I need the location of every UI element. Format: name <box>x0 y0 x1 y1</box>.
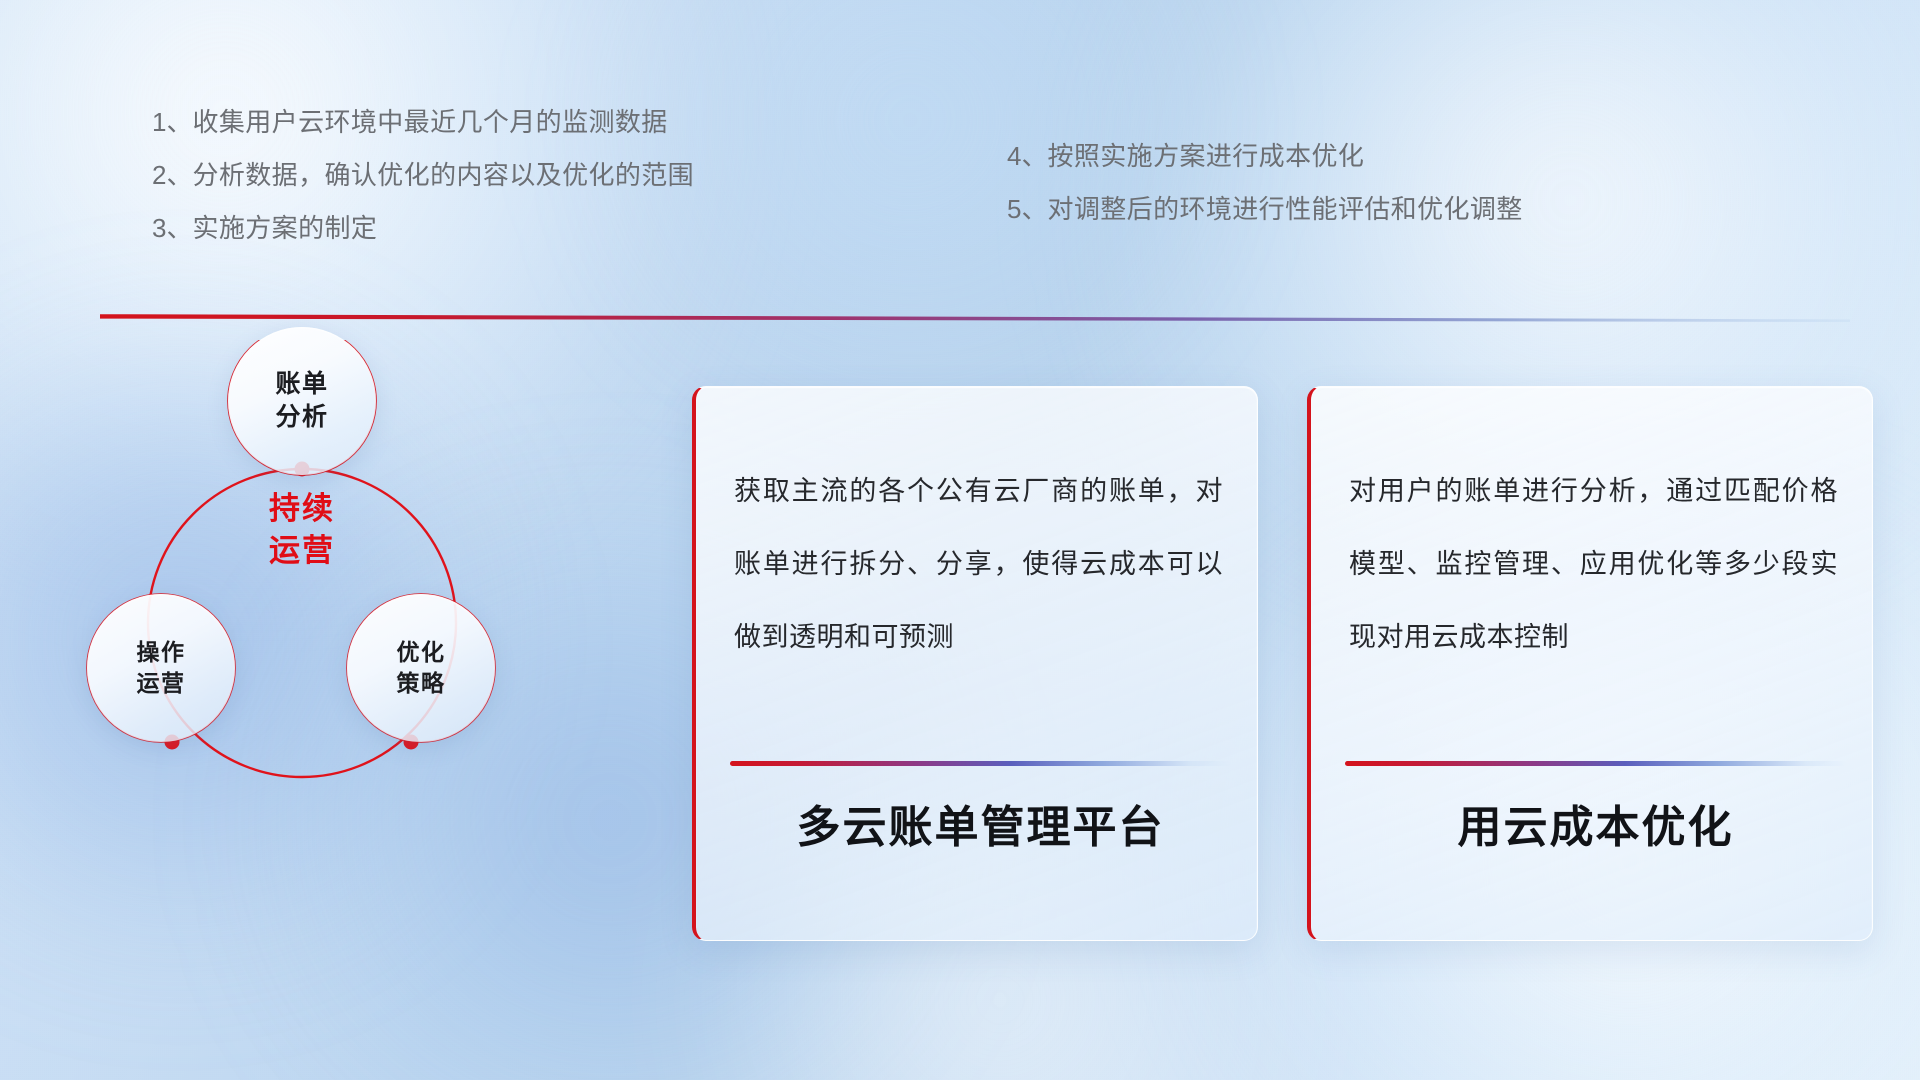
list-item-number: 5、 <box>1007 194 1047 224</box>
list-item-number: 2、 <box>152 160 192 190</box>
list-item-label: 对调整后的环境进行性能评估和优化调整 <box>1047 194 1522 224</box>
node-label-line-1: 账单 <box>275 368 328 401</box>
feature-card-multi-cloud-billing[interactable]: 获取主流的各个公有云厂商的账单，对账单进行拆分、分享，使得云成本可以做到透明和可… <box>692 386 1258 941</box>
card-divider <box>1345 761 1846 766</box>
list-item-label: 实施方案的制定 <box>192 213 377 243</box>
diagram-node-billing-analysis[interactable]: 账单 分析 <box>228 327 376 475</box>
card-divider <box>730 761 1231 766</box>
card-title: 多云账单管理平台 <box>730 799 1231 857</box>
list-item-number: 4、 <box>1007 141 1047 171</box>
process-steps-right-column: 4、按照实施方案进行成本优化 5、对调整后的环境进行性能评估和优化调整 <box>1007 130 1523 236</box>
node-label-line-2: 分析 <box>275 401 328 434</box>
list-item-number: 3、 <box>152 213 192 243</box>
node-label-line-2: 策略 <box>397 668 446 699</box>
node-label-line-1: 优化 <box>397 637 446 668</box>
slide-canvas: 1、收集用户云环境中最近几个月的监测数据 2、分析数据，确认优化的内容以及优化的… <box>0 0 1920 1080</box>
list-item-number: 1、 <box>152 107 192 137</box>
diagram-center-label: 持续 运营 <box>222 488 382 572</box>
list-item: 2、分析数据，确认优化的内容以及优化的范围 <box>152 149 694 202</box>
list-item: 4、按照实施方案进行成本优化 <box>1007 130 1523 183</box>
list-item-label: 收集用户云环境中最近几个月的监测数据 <box>192 107 667 137</box>
process-steps-left-column: 1、收集用户云环境中最近几个月的监测数据 2、分析数据，确认优化的内容以及优化的… <box>152 96 694 255</box>
list-item: 1、收集用户云环境中最近几个月的监测数据 <box>152 96 694 149</box>
list-item-label: 分析数据，确认优化的内容以及优化的范围 <box>192 160 694 190</box>
center-label-line-2: 运营 <box>222 530 382 572</box>
node-label-line-2: 运营 <box>137 668 186 699</box>
card-title: 用云成本优化 <box>1345 799 1846 857</box>
list-item-label: 按照实施方案进行成本优化 <box>1047 141 1364 171</box>
diagram-node-optimization-strategy[interactable]: 优化 策略 <box>347 594 495 742</box>
node-label-line-1: 操作 <box>137 637 186 668</box>
card-body-text: 获取主流的各个公有云厂商的账单，对账单进行拆分、分享，使得云成本可以做到透明和可… <box>734 455 1223 674</box>
list-item: 5、对调整后的环境进行性能评估和优化调整 <box>1007 183 1523 236</box>
continuous-operation-diagram: 账单 分析 操作 运营 优化 策略 持续 运营 <box>75 340 595 820</box>
list-item: 3、实施方案的制定 <box>152 202 694 255</box>
divider-taper-shape <box>100 313 1850 323</box>
card-body-text: 对用户的账单进行分析，通过匹配价格模型、监控管理、应用优化等多少段实现对用云成本… <box>1349 455 1838 674</box>
center-label-line-1: 持续 <box>222 488 382 530</box>
diagram-node-operation[interactable]: 操作 运营 <box>87 594 235 742</box>
section-divider <box>100 313 1850 323</box>
feature-card-cloud-cost-optimization[interactable]: 对用户的账单进行分析，通过匹配价格模型、监控管理、应用优化等多少段实现对用云成本… <box>1307 386 1873 941</box>
